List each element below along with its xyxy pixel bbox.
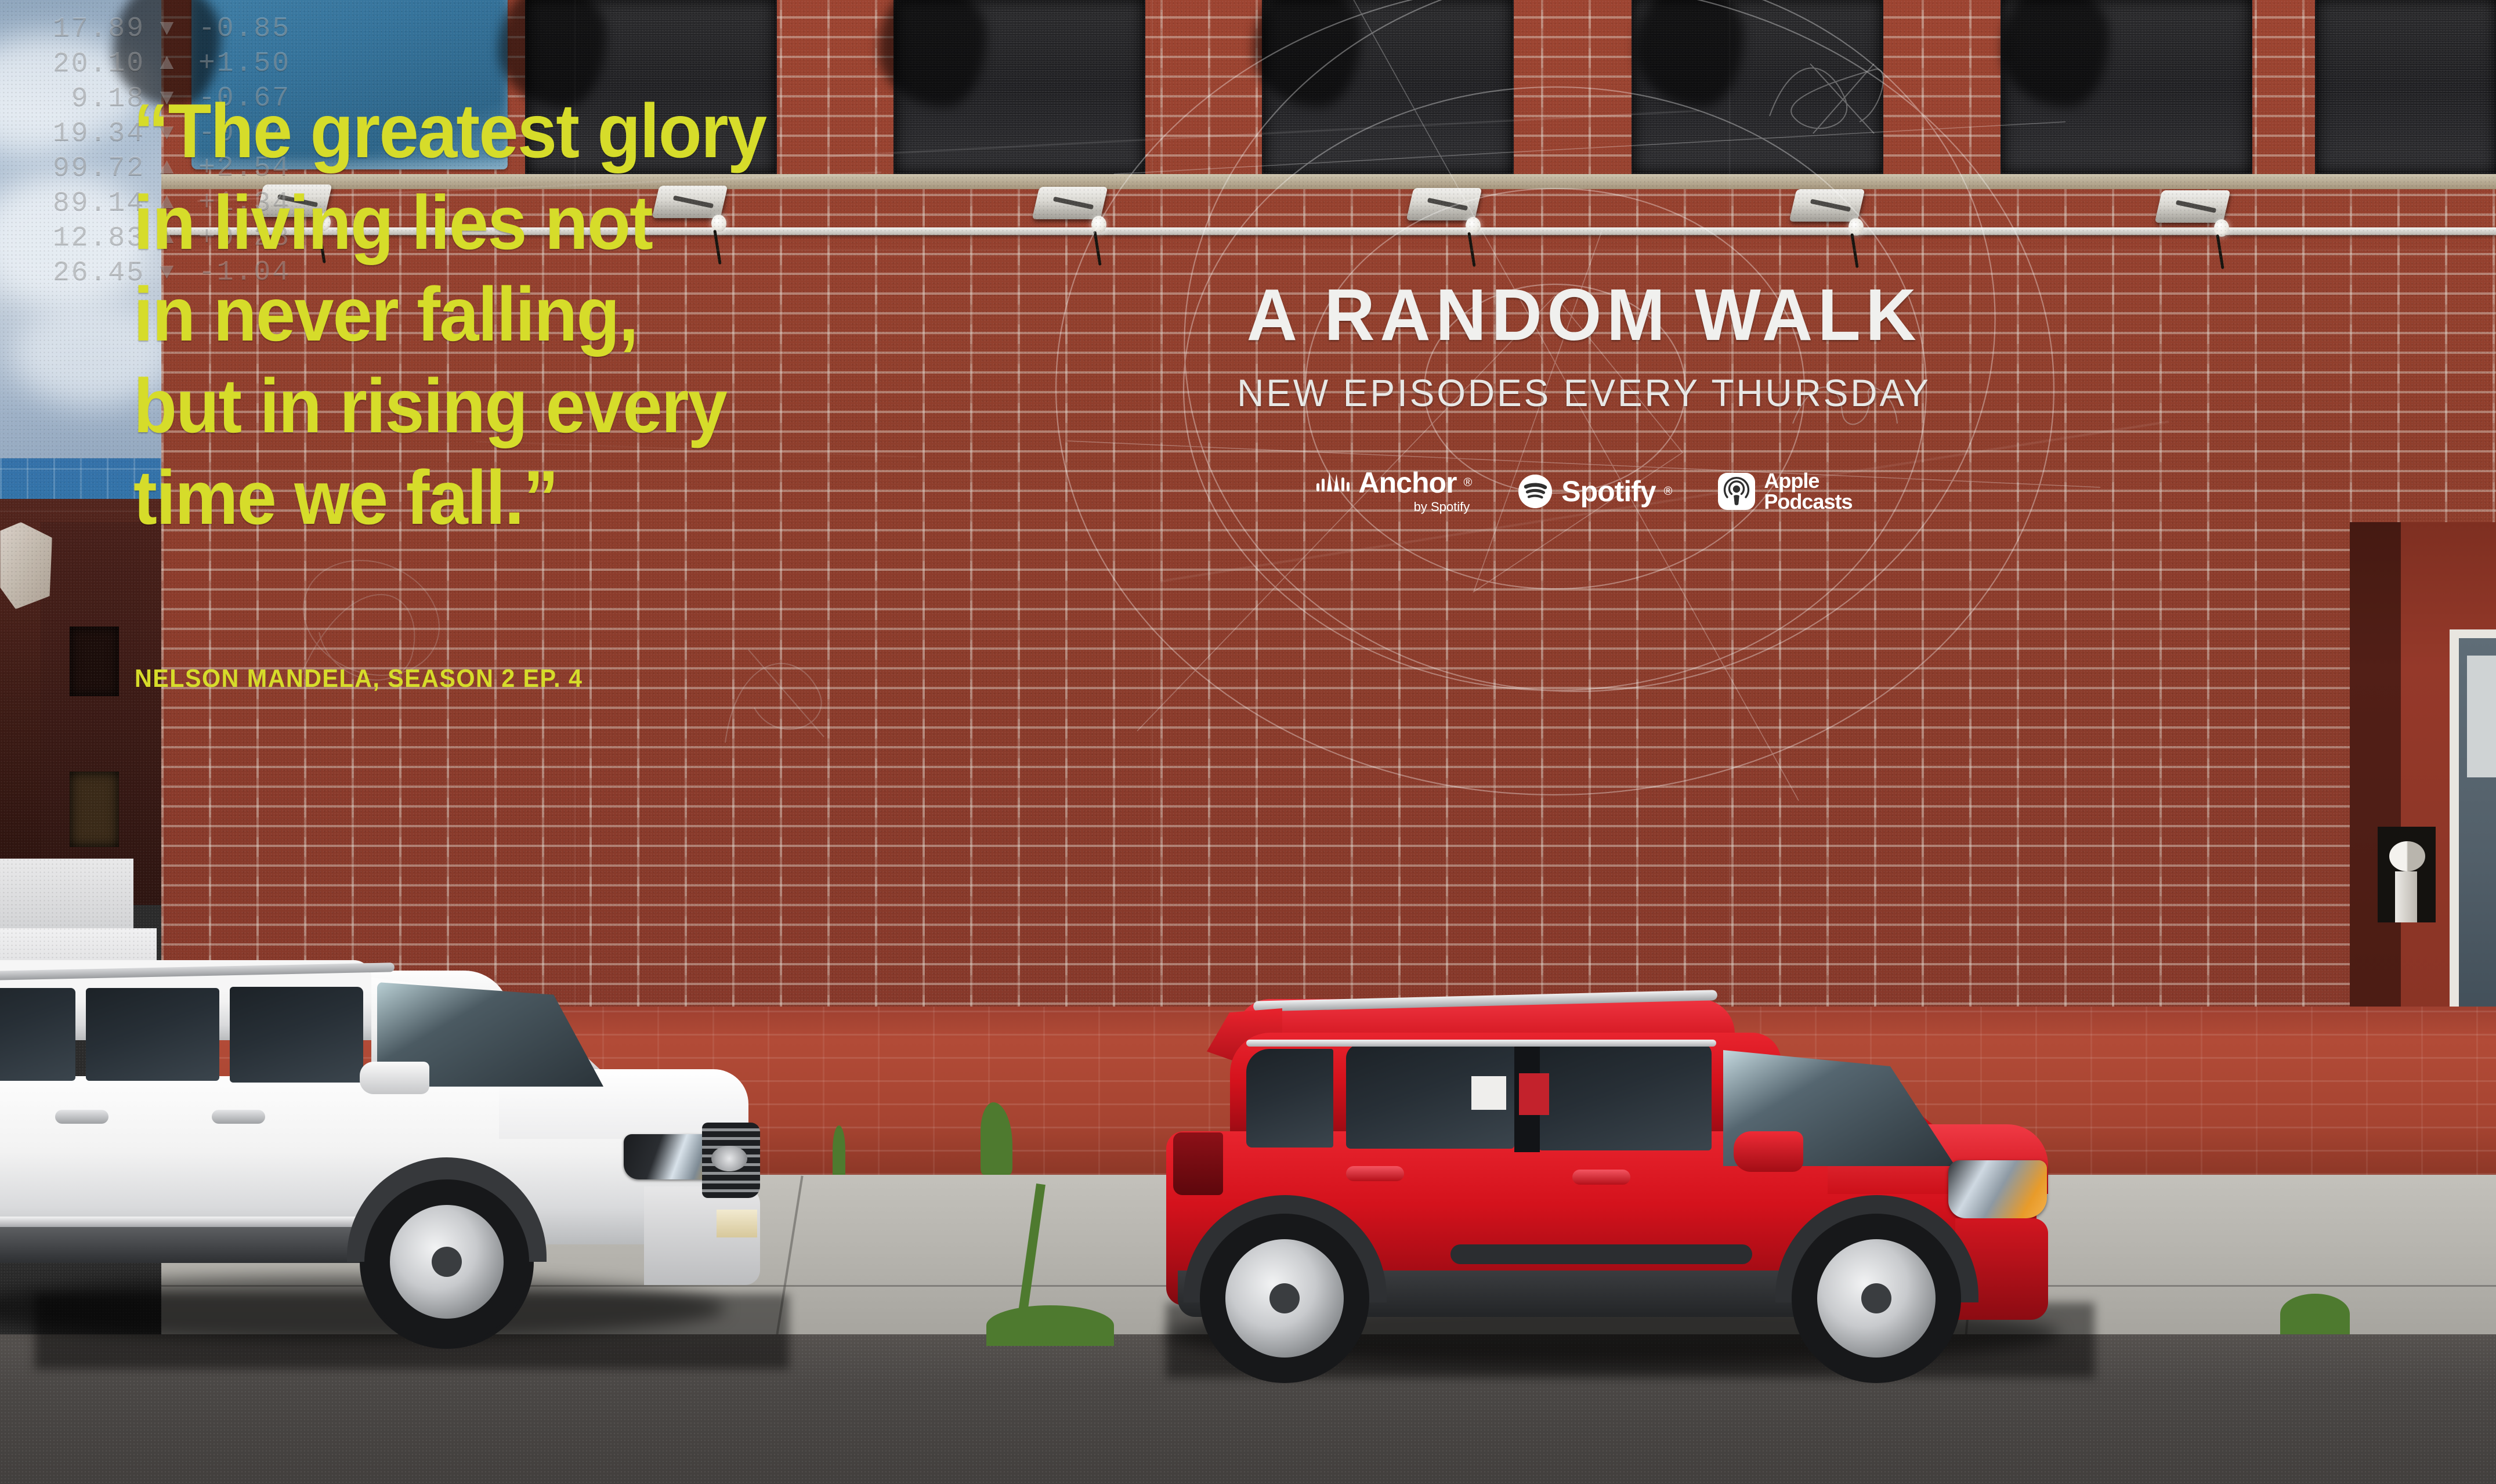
podcast-billboard-poster: 17.89 ▼ -0.85 20.10 ▲ +1.50 9.18 ▼ -0.67… <box>0 0 2183 769</box>
anchor-wordmark: Anchor <box>1358 468 1456 497</box>
anchor-tagline: by Spotify <box>1414 500 1470 515</box>
rear-quarter-window <box>1246 1049 1333 1148</box>
front-hub <box>1861 1283 1891 1313</box>
weed <box>986 1305 1114 1346</box>
show-subtitle: NEW EPISODES EVERY THURSDAY <box>1072 371 2096 415</box>
taillight <box>1173 1132 1223 1195</box>
ticker-price: 89.14 <box>15 187 145 219</box>
apple-podcasts-icon <box>1717 472 1756 511</box>
ticker-change: -0.85 <box>190 13 332 45</box>
rear-door-window <box>86 988 219 1081</box>
white-globe-lamp <box>2389 841 2425 871</box>
reflected-sign-white <box>1471 1076 1506 1110</box>
door-handle[interactable] <box>1346 1166 1404 1181</box>
quote-line: but in rising every <box>133 368 1029 444</box>
side-mirror <box>1734 1131 1803 1172</box>
scribble-doodle <box>1758 46 1897 145</box>
side-mirror <box>360 1062 429 1094</box>
ticker-row: 20.10 ▲ +1.50 <box>15 46 374 81</box>
front-wheel-hub <box>432 1247 462 1277</box>
license-plate <box>717 1210 757 1237</box>
spotify-registered-mark: ® <box>1664 485 1673 498</box>
spotify-logo[interactable]: Spotify ® <box>1517 473 1672 509</box>
window-chrome-trim <box>1246 1040 1716 1047</box>
spotify-wordmark: Spotify <box>1561 477 1655 506</box>
show-branding-block: A RANDOM WALK NEW EPISODES EVERY THURSDA… <box>1056 273 2112 515</box>
quote-line: time we fall.” <box>133 459 1029 536</box>
headlight <box>1948 1160 2047 1218</box>
ticker-change: +1.50 <box>190 48 332 79</box>
platform-logo-row: Anchor ® by Spotify Spo <box>1056 468 2112 515</box>
rear-side-window <box>0 988 75 1081</box>
door-handle[interactable] <box>212 1110 265 1124</box>
ticker-price: 26.45 <box>15 257 145 288</box>
ticker-price: 17.89 <box>15 13 145 45</box>
white-suv-nissan-pathfinder <box>0 954 766 1326</box>
scribble-doodle <box>714 638 847 754</box>
quote-attribution: NELSON MANDELA, SEASON 2 EP. 4 <box>135 664 583 693</box>
show-title: A RANDOM WALK <box>1077 273 2090 357</box>
anchor-registered-mark: ® <box>1463 476 1472 490</box>
street-scene-photograph: 17.89 ▼ -0.85 20.10 ▲ +1.50 9.18 ▼ -0.67… <box>0 0 2496 1484</box>
ticker-price: 99.72 <box>15 153 145 184</box>
anchor-logo[interactable]: Anchor ® by Spotify <box>1315 468 1472 515</box>
ticker-arrow-icon: ▲ <box>145 51 190 77</box>
chrome-side-trim <box>0 1217 406 1227</box>
weed <box>2280 1294 2350 1334</box>
door-handle[interactable] <box>55 1110 108 1124</box>
anchor-waveform-icon <box>1315 469 1351 496</box>
quote-line: in never falling, <box>133 276 1029 353</box>
front-door-window <box>1538 1043 1712 1150</box>
weed <box>833 1125 845 1175</box>
apple-wordmark-line1: Apple <box>1764 470 1819 491</box>
spotify-icon <box>1517 473 1553 509</box>
quote-line: “The greatest glory <box>133 93 1029 169</box>
ticker-arrow-icon: ▼ <box>145 16 190 42</box>
quote-line: in living lies not <box>133 184 1029 261</box>
reflected-sign-red <box>1519 1073 1549 1115</box>
ticker-price: 19.34 <box>15 118 145 149</box>
rear-hub <box>1269 1283 1300 1313</box>
red-suv-kia-niro <box>1143 986 2095 1358</box>
apple-wordmark-line2: Podcasts <box>1764 491 1852 512</box>
apple-podcasts-logo[interactable]: Apple Podcasts <box>1717 470 1852 512</box>
door-window-panel <box>2467 656 2496 777</box>
front-door-window <box>230 987 363 1083</box>
side-body-molding <box>1450 1244 1752 1264</box>
ticker-price: 12.83 <box>15 222 145 254</box>
entry-bay-shadow <box>2350 522 2401 1007</box>
ticker-price: 20.10 <box>15 48 145 79</box>
door-handle[interactable] <box>1572 1170 1630 1185</box>
ticker-row: 17.89 ▼ -0.85 <box>15 12 374 46</box>
nissan-emblem <box>711 1146 747 1171</box>
billboard-quote: “The greatest glory in living lies not i… <box>133 93 1029 551</box>
ticker-price: 9.18 <box>15 83 145 114</box>
lamp-pedestal <box>2395 871 2417 922</box>
